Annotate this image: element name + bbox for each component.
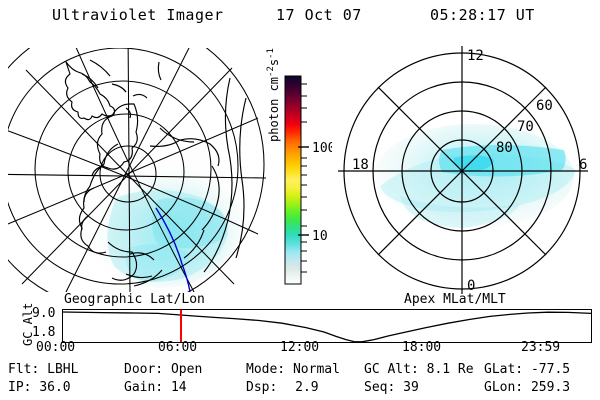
page-title: Ultraviolet Imager xyxy=(52,6,224,24)
apex-mlt-label-18: 18 xyxy=(352,157,369,173)
telemetry-glat: GLat: -77.5 xyxy=(484,362,570,377)
orbit-altitude-strip-plot[interactable]: Geographic Lat/Lon Apex MLat/MLT GC Alt … xyxy=(0,292,600,358)
telemetry-door-label: Door: xyxy=(124,362,163,377)
telemetry-gc-alt-label: GC Alt: xyxy=(364,362,419,377)
uvi-display: Ultraviolet Imager 17 Oct 07 05:28:17 UT xyxy=(0,0,600,400)
telemetry-door: Door: Open xyxy=(124,362,202,377)
telemetry-flt: Flt: LBHL xyxy=(8,362,78,377)
telemetry-gc-alt: GC Alt: 8.1 Re xyxy=(364,362,474,377)
telemetry-dsp-label: Dsp: xyxy=(246,380,277,395)
header-bar: Ultraviolet Imager 17 Oct 07 05:28:17 UT xyxy=(0,6,600,32)
apex-mlat-label-60: 60 xyxy=(536,98,553,114)
telemetry-glon: GLon: 259.3 xyxy=(484,380,570,395)
telemetry-gain-value: 14 xyxy=(171,380,187,395)
apex-mlt-label-12: 12 xyxy=(467,48,484,64)
telemetry-mode-value: Normal xyxy=(293,362,340,377)
telemetry-flt-value: LBHL xyxy=(47,362,78,377)
strip-xtick-1800: 18:00 xyxy=(402,340,441,355)
telemetry-mode: Mode: Normal xyxy=(246,362,340,377)
strip-xtick-2359: 23:59 xyxy=(521,340,560,355)
observation-date: 17 Oct 07 xyxy=(276,6,362,24)
telemetry-ip-value: 36.0 xyxy=(39,380,70,395)
apex-panel-caption: Apex MLat/MLT xyxy=(404,292,506,307)
strip-ytick-low: 1.8 xyxy=(32,325,55,340)
telemetry-glat-value: -77.5 xyxy=(531,362,570,377)
strip-xtick-row: 00:00 06:00 12:00 18:00 23:59 xyxy=(0,340,600,358)
telemetry-gain: Gain: 14 xyxy=(124,380,187,395)
telemetry-footer: Flt: LBHL Door: Open Mode: Normal GC Alt… xyxy=(0,362,600,400)
telemetry-flt-label: Flt: xyxy=(8,362,39,377)
telemetry-glat-label: GLat: xyxy=(484,362,523,377)
strip-xtick-0000: 00:00 xyxy=(36,340,75,355)
colorbar-tick-10: 10 xyxy=(312,229,328,244)
colorbar-axis-label: photon cm-2s-1 xyxy=(266,48,281,142)
telemetry-ip: IP: 36.0 xyxy=(8,380,71,395)
strip-xtick-0600: 06:00 xyxy=(158,340,197,355)
colorbar-gradient xyxy=(285,76,301,284)
telemetry-ip-label: IP: xyxy=(8,380,31,395)
telemetry-glon-label: GLon: xyxy=(484,380,523,395)
colorbar-panel: photon cm-2s-1 xyxy=(268,46,332,294)
telemetry-dsp: Dsp: 2.9 xyxy=(246,380,319,395)
apex-dial-panel[interactable]: 12 6 0 18 60 70 80 xyxy=(334,44,596,294)
apex-mlat-label-80: 80 xyxy=(496,140,513,156)
colorbar-minor-ticks xyxy=(301,84,307,272)
geographic-panel-caption: Geographic Lat/Lon xyxy=(64,292,205,307)
telemetry-seq-label: Seq: xyxy=(364,380,395,395)
telemetry-dsp-value: 2.9 xyxy=(295,380,318,395)
telemetry-gc-alt-value: 8.1 Re xyxy=(427,362,474,377)
telemetry-glon-value: 259.3 xyxy=(531,380,570,395)
telemetry-mode-label: Mode: xyxy=(246,362,285,377)
strip-ytick-high: 9.0 xyxy=(32,306,55,321)
orbit-altitude-trace xyxy=(63,312,591,342)
telemetry-gain-label: Gain: xyxy=(124,380,163,395)
strip-xtick-1200: 12:00 xyxy=(280,340,319,355)
observation-time: 05:28:17 UT xyxy=(430,6,535,24)
telemetry-seq: Seq: 39 xyxy=(364,380,419,395)
colorbar-tick-100: 100 xyxy=(312,141,332,156)
telemetry-seq-value: 39 xyxy=(403,380,419,395)
strip-plot-svg xyxy=(62,309,592,343)
telemetry-door-value: Open xyxy=(171,362,202,377)
apex-mlt-label-6: 6 xyxy=(579,157,587,173)
apex-dial-svg: 12 6 0 18 60 70 80 xyxy=(334,44,596,294)
geographic-map-svg xyxy=(8,48,266,292)
geographic-map-panel[interactable] xyxy=(8,48,266,292)
apex-mlat-label-70: 70 xyxy=(517,119,534,135)
